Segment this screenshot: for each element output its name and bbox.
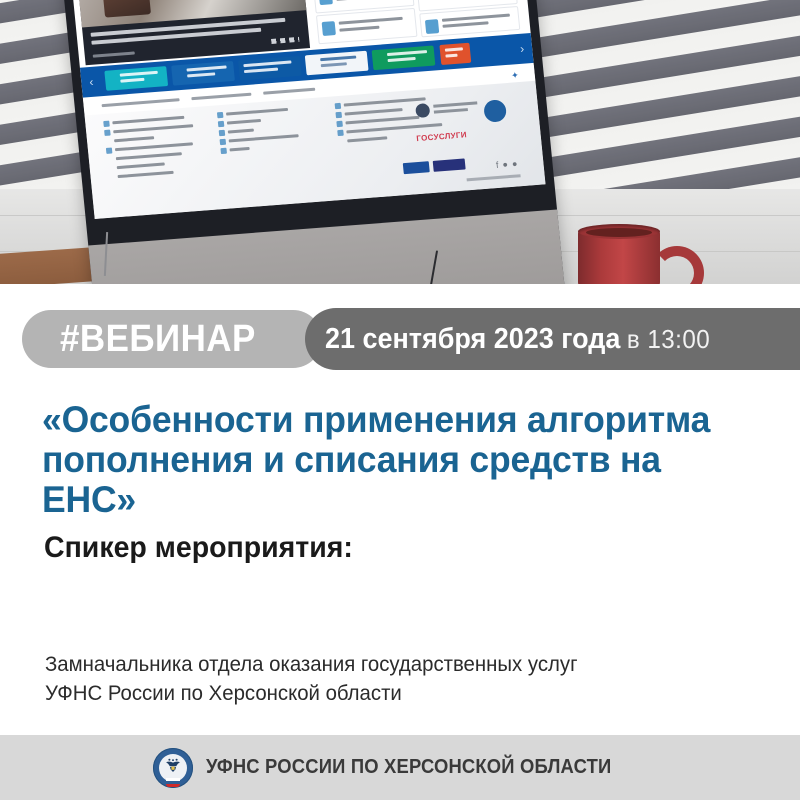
- desktop-monitor: ›: [61, 0, 566, 284]
- footer-link-label: [229, 134, 299, 142]
- social-link-icon: ✦: [511, 70, 520, 82]
- footer-band: УФНС РОССИИ ПО ХЕРСОНСКОЙ ОБЛАСТИ: [0, 735, 800, 800]
- tile-sublabel: [339, 26, 379, 32]
- footer-link-label: [344, 97, 426, 106]
- googleplay-badge: [433, 158, 466, 171]
- footer-link-label: [227, 119, 261, 125]
- link-bullet-icon: [337, 130, 344, 136]
- nav-item-label: [120, 78, 144, 82]
- nav-item: [439, 43, 471, 65]
- footer-link-label: [112, 116, 184, 125]
- mug-opening: [586, 228, 652, 237]
- time-prefix: в: [627, 324, 640, 354]
- nav-item-label: [388, 57, 416, 62]
- footer-link-label: [346, 123, 442, 133]
- footer-link: [109, 169, 199, 180]
- nav-item-label: [243, 60, 291, 66]
- breadcrumb: [191, 93, 251, 100]
- nav-item-label: [387, 50, 427, 56]
- service-tile: [419, 6, 520, 37]
- link-bullet-icon: [220, 139, 227, 145]
- speaker-description-line-1: Замначальника отдела оказания государств…: [45, 650, 724, 679]
- nav-item: [305, 51, 369, 76]
- fns-russia-emblem-icon: [153, 748, 193, 788]
- nav-item-label: [187, 72, 215, 77]
- speaker-description: Замначальника отдела оказания государств…: [45, 650, 724, 708]
- nav-item-label: [445, 47, 463, 51]
- date-time-label: 21 сентября 2023 годав 13:00: [325, 324, 710, 354]
- footer-link-label: [347, 136, 387, 142]
- footer-link-label: [230, 147, 250, 152]
- event-title: «Особенности применения алгоритма пополн…: [42, 400, 752, 520]
- footer-organization-name: УФНС РОССИИ ПО ХЕРСОНСКОЙ ОБЛАСТИ: [206, 756, 611, 779]
- footer-link-label: [226, 108, 288, 116]
- nav-item-label: [120, 71, 158, 76]
- footer-link-label: [117, 162, 165, 169]
- russian-tricolor-ribbon: [166, 778, 180, 787]
- nav-item-label: [445, 54, 457, 57]
- nav-item: [372, 46, 436, 71]
- hero-image: [76, 0, 306, 27]
- nav-item: [171, 61, 235, 86]
- footer-link-label: [116, 152, 182, 160]
- nav-item: [238, 56, 302, 81]
- footer-link-label: [345, 116, 419, 125]
- link-bullet-icon: [335, 103, 342, 109]
- link-bullet-icon: [103, 121, 110, 127]
- footer-link-label: [228, 129, 254, 134]
- link-bullet-icon: [218, 121, 225, 127]
- footer-copyright: [467, 174, 521, 181]
- nav-item-label: [321, 62, 347, 66]
- tile-label: [442, 14, 510, 22]
- link-bullet-icon: [335, 112, 342, 118]
- tile-sublabel: [442, 21, 488, 27]
- nav-prev-chevron-icon: ‹: [89, 75, 94, 89]
- event-badge-row: #ВЕБИНАР 21 сентября 2023 годав 13:00: [0, 308, 800, 370]
- nav-item: [104, 66, 168, 91]
- double-headed-eagle-icon: [164, 757, 182, 774]
- service-tile: [316, 8, 418, 44]
- speaker-description-line-2: УФНС России по Херсонской области: [45, 679, 724, 708]
- footer-link-label: [118, 171, 174, 178]
- link-bullet-icon: [106, 147, 113, 153]
- link-bullet-icon: [336, 121, 343, 127]
- footer-link-label: [115, 142, 193, 151]
- hashtag-label: #ВЕБИНАР: [60, 320, 256, 358]
- hero-date-line: [93, 51, 135, 57]
- breadcrumb: [263, 88, 315, 94]
- link-bullet-icon: [217, 112, 224, 118]
- link-bullet-icon: [104, 130, 111, 136]
- nav-item-label: [244, 68, 278, 73]
- fns-emblem-icon: [481, 97, 509, 125]
- link-bullet-icon: [219, 130, 226, 136]
- footer-link-label: [114, 136, 154, 142]
- breadcrumb: [102, 98, 180, 106]
- appstore-badge: [403, 161, 430, 174]
- tile-icon: [425, 19, 439, 34]
- nav-item-label: [320, 55, 356, 60]
- footer-link-label: [345, 108, 403, 115]
- time-value: 13:00: [647, 324, 710, 354]
- nav-item-label: [186, 65, 226, 71]
- event-date: 21 сентября 2023 года: [325, 323, 620, 355]
- nav-next-chevron-icon: ›: [519, 42, 524, 56]
- footer-link: [221, 142, 311, 153]
- hero-photo: ›: [0, 0, 800, 284]
- social-icons: f●●: [496, 158, 522, 170]
- speaker-heading: Спикер мероприятия:: [44, 531, 353, 565]
- tile-icon: [319, 0, 333, 5]
- tile-label: [339, 17, 403, 24]
- footer-link-label: [113, 124, 193, 133]
- link-bullet-icon: [220, 148, 227, 154]
- event-time: в 13:00: [627, 324, 710, 354]
- carousel-dots: [271, 37, 299, 44]
- monitor-screen: ›: [70, 0, 545, 219]
- tile-icon: [322, 21, 336, 36]
- hero-photo-subject: [101, 0, 151, 18]
